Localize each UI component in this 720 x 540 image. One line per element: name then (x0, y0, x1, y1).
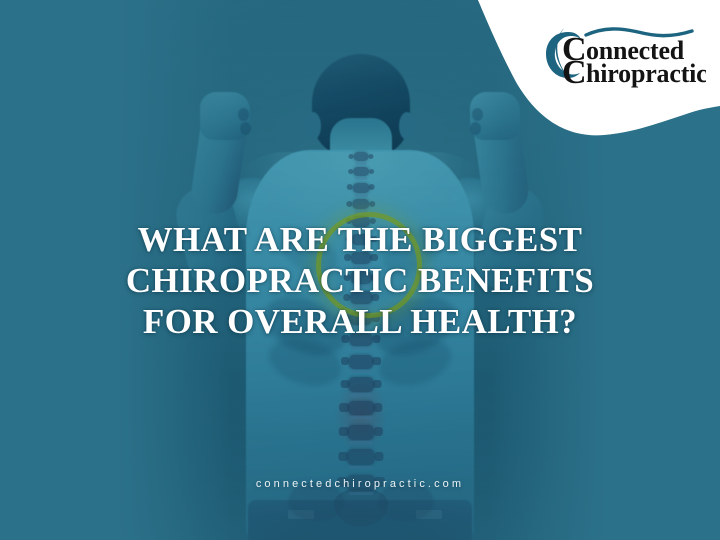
headline-line-1: WHAT ARE THE BIGGEST (36, 219, 684, 260)
logo-cap-c-bottom: C (562, 54, 587, 88)
page-title: WHAT ARE THE BIGGEST CHIROPRACTIC BENEFI… (0, 219, 720, 342)
slide-canvas: C onnected C hiropractic WHAT ARE THE BI… (0, 0, 720, 540)
headline-line-2: CHIROPRACTIC BENEFITS (36, 260, 684, 301)
website-url[interactable]: connectedchiropractic.com (0, 478, 720, 490)
logo-wave-line (586, 29, 692, 36)
headline-line-3: FOR OVERALL HEALTH? (36, 301, 684, 342)
logo-word-hiropractic: hiropractic (586, 59, 706, 88)
connected-chiropractic-logo[interactable]: C onnected C hiropractic (542, 22, 706, 88)
